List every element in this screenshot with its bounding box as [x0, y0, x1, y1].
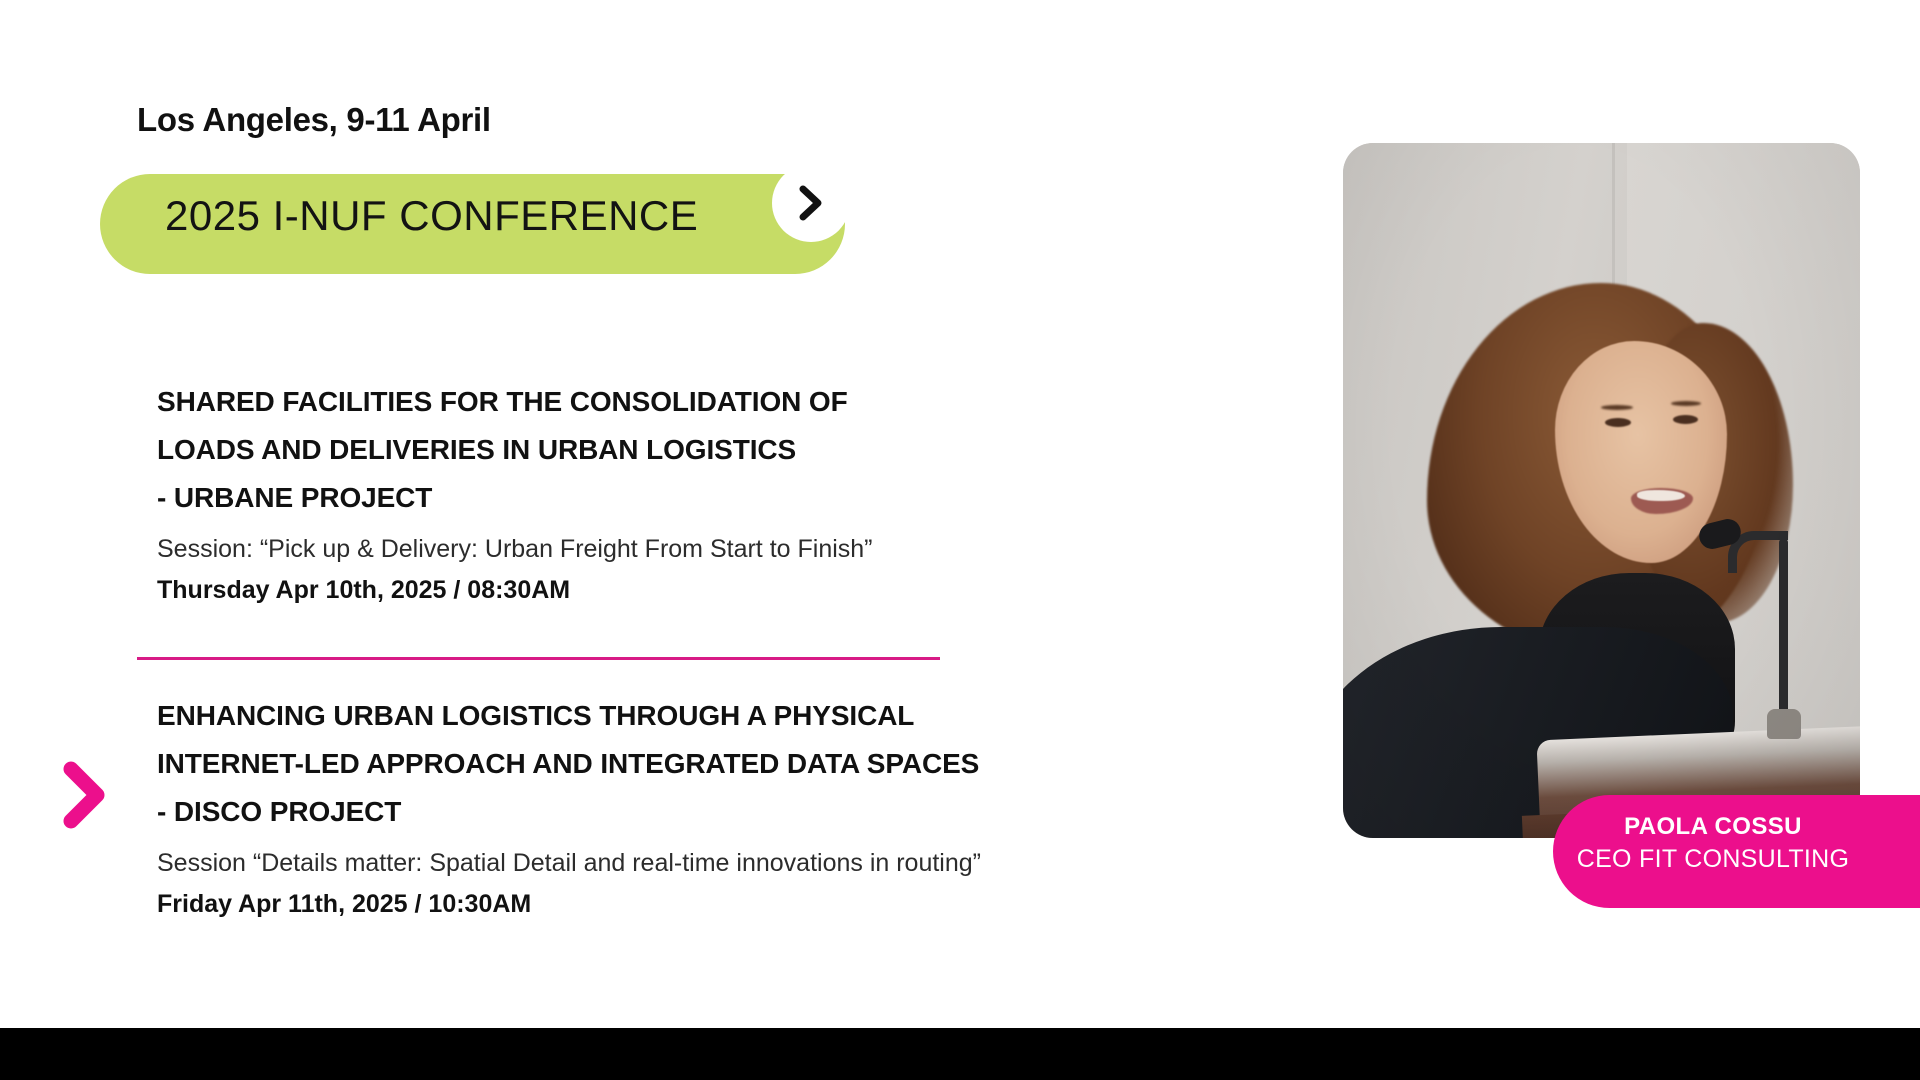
- speaker-photo: [1343, 143, 1860, 838]
- photo-vignette: [1343, 143, 1860, 838]
- footer-bar: [0, 1028, 1920, 1080]
- speaker-name: PAOLA COSSU: [1553, 812, 1873, 842]
- talk-datetime: Friday Apr 11th, 2025 / 10:30AM: [157, 888, 981, 920]
- speaker-name-badge: PAOLA COSSU CEO FIT CONSULTING: [1553, 795, 1920, 908]
- presentation-slide: Los Angeles, 9-11 April 2025 I-NUF CONFE…: [0, 0, 1920, 1080]
- talk-title: ENHANCING URBAN LOGISTICS THROUGH A PHYS…: [157, 692, 981, 836]
- talk-title: SHARED FACILITIES FOR THE CONSOLIDATION …: [157, 378, 873, 522]
- talk-session: Session: “Pick up & Delivery: Urban Frei…: [157, 533, 873, 565]
- conference-badge-label: 2025 I-NUF CONFERENCE: [165, 192, 698, 240]
- chevron-right-icon: [62, 760, 108, 830]
- section-divider: [137, 657, 940, 660]
- location-date-heading: Los Angeles, 9-11 April: [137, 101, 491, 139]
- talk-datetime: Thursday Apr 10th, 2025 / 08:30AM: [157, 574, 873, 606]
- talk-session: Session “Details matter: Spatial Detail …: [157, 847, 981, 879]
- badge-arrow-button[interactable]: [772, 164, 850, 242]
- chevron-right-icon: [796, 184, 826, 222]
- speaker-role: CEO FIT CONSULTING: [1553, 842, 1873, 876]
